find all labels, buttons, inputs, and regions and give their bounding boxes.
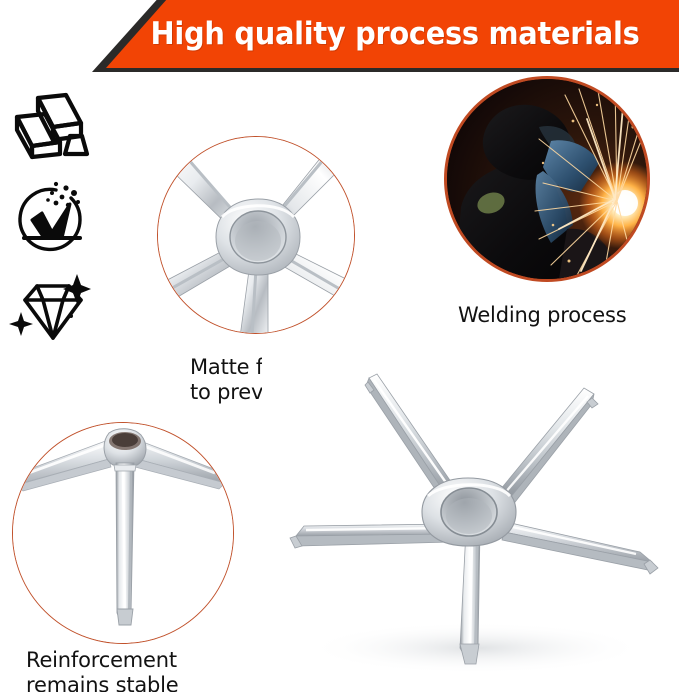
product-infographic: High quality process materials bbox=[0, 0, 679, 692]
feature-icon-column bbox=[4, 80, 100, 356]
page-title: High quality process materials bbox=[139, 0, 651, 68]
callout-image-welding-process bbox=[444, 76, 650, 282]
polished-surface-check-icon bbox=[4, 172, 96, 264]
callout-image-reinforcement bbox=[12, 422, 234, 644]
header-banner: High quality process materials bbox=[0, 0, 679, 78]
diamond-sparkle-icon bbox=[4, 264, 96, 356]
caption-welding-process: Welding process bbox=[458, 303, 626, 328]
callout-image-matte-finish bbox=[157, 136, 355, 334]
caption-reinforcement: Reinforcement remains stable bbox=[26, 648, 179, 692]
hero-product-image bbox=[262, 352, 674, 688]
metal-ingots-icon bbox=[4, 80, 96, 172]
